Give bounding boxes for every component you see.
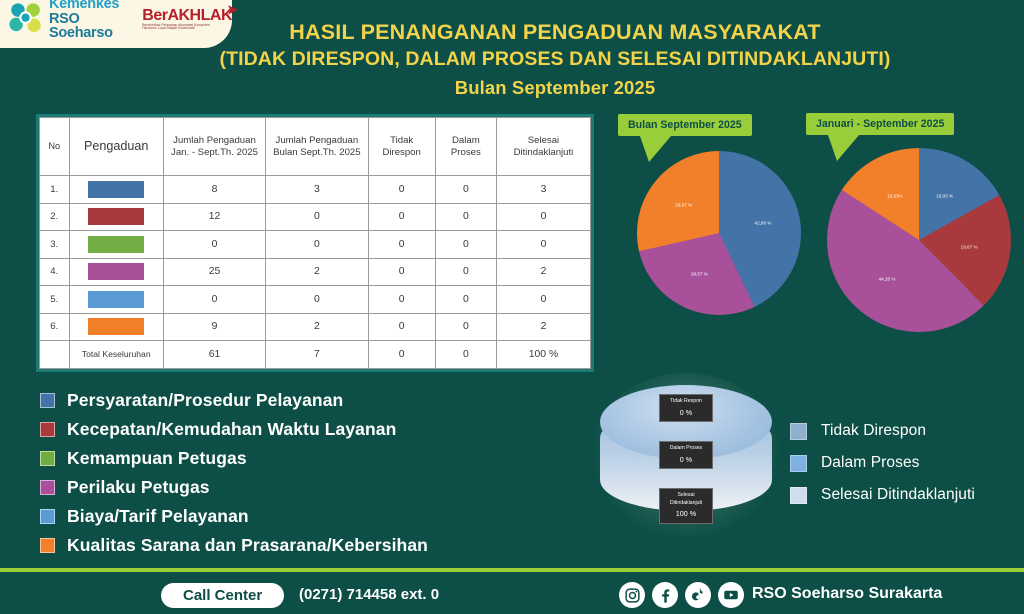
call-center-phone: (0271) 714458 ext. 0	[299, 586, 439, 603]
cylinder-callout-2-value: 0 %	[662, 455, 710, 465]
category-color-swatch	[88, 236, 144, 253]
cell-jan-sept: 0	[163, 286, 265, 314]
status-legend: Tidak DiresponDalam ProsesSelesai Ditind…	[790, 415, 975, 511]
cell-total-jan-sept: 61	[163, 341, 265, 369]
legend-item: Biaya/Tarif Pelayanan	[40, 502, 428, 531]
legend-item-label: Biaya/Tarif Pelayanan	[67, 506, 249, 527]
page-footer: Call Center (0271) 714458 ext. 0 RSO Soe…	[0, 568, 1024, 614]
status-legend-swatch	[790, 487, 807, 504]
category-color-swatch	[88, 291, 144, 308]
cell-dalam-proses: 0	[435, 286, 496, 314]
legend-color-swatch	[40, 509, 55, 524]
col-jumlah-jan-sept: Jumlah Pengaduan Jan. - Sept.Th. 2025	[163, 118, 265, 176]
cell-category-swatch	[69, 258, 163, 286]
legend-color-swatch	[40, 451, 55, 466]
cell-selesai: 0	[496, 231, 590, 259]
table-header-row: No Pengaduan Jumlah Pengaduan Jan. - Sep…	[40, 118, 591, 176]
pie-chart-september: 42,86 %28,57 %28,57 %	[637, 151, 801, 315]
status-legend-label: Tidak Direspon	[821, 422, 926, 440]
table-total-row: Total Keseluruhan61700100 %	[40, 341, 591, 369]
cell-bulan-sept: 0	[266, 203, 368, 231]
legend-color-swatch	[40, 422, 55, 437]
berakhlak-arrow-icon: ➤	[227, 3, 238, 16]
table-row: 3.00000	[40, 231, 591, 259]
cell-jan-sept: 0	[163, 231, 265, 259]
cell-selesai: 2	[496, 258, 590, 286]
title-line-1: HASIL PENANGANAN PENGADUAN MASYARAKAT	[160, 18, 950, 46]
legend-item-label: Kualitas Sarana dan Prasarana/Kebersihan	[67, 535, 428, 556]
page-header: Kemenkes RSO Soeharso ➤ BerAKHLAK Berori…	[0, 0, 1024, 104]
cell-category-swatch	[69, 286, 163, 314]
cell-bulan-sept: 2	[266, 258, 368, 286]
cell-dalam-proses: 0	[435, 176, 496, 204]
cell-dalam-proses: 0	[435, 203, 496, 231]
pie-slice-label: 42,86 %	[755, 220, 772, 225]
legend-item-label: Perilaku Petugas	[67, 477, 210, 498]
status-legend-label: Dalam Proses	[821, 454, 920, 472]
legend-item: Kemampuan Petugas	[40, 444, 428, 473]
cell-selesai: 2	[496, 313, 590, 341]
category-color-swatch	[88, 181, 144, 198]
table-row: 1.83003	[40, 176, 591, 204]
cell-no	[40, 341, 70, 369]
status-legend-label: Selesai Ditindaklanjuti	[821, 486, 975, 504]
table-row: 6.92002	[40, 313, 591, 341]
pie-chart-jan-september: 16,03 %19,67 %44,26 %15,03%	[827, 148, 1011, 332]
cell-bulan-sept: 3	[266, 176, 368, 204]
cell-dalam-proses: 0	[435, 231, 496, 259]
cell-total-selesai: 100 %	[496, 341, 590, 369]
col-pengaduan: Pengaduan	[69, 118, 163, 176]
legend-item-label: Kecepatan/Kemudahan Waktu Layanan	[67, 419, 396, 440]
facebook-icon[interactable]	[652, 582, 678, 608]
instagram-icon[interactable]	[619, 582, 645, 608]
category-color-swatch	[88, 263, 144, 280]
cell-selesai: 0	[496, 203, 590, 231]
cylinder-callout-tidak-respon: Tidak Respon 0 %	[659, 394, 713, 422]
table-head: No Pengaduan Jumlah Pengaduan Jan. - Sep…	[40, 118, 591, 176]
col-jumlah-bulan-sept: Jumlah Pengaduan Bulan Sept.Th. 2025	[266, 118, 368, 176]
legend-color-swatch	[40, 480, 55, 495]
title-line-2: (TIDAK DIRESPON, DALAM PROSES DAN SELESA…	[160, 46, 950, 73]
legend-item: Kecepatan/Kemudahan Waktu Layanan	[40, 415, 428, 444]
complaints-table: No Pengaduan Jumlah Pengaduan Jan. - Sep…	[39, 117, 591, 369]
cell-category-swatch	[69, 313, 163, 341]
cell-category-swatch	[69, 176, 163, 204]
cylinder-callout-dalam-proses: Dalam Proses 0 %	[659, 441, 713, 469]
callout-pie1: Bulan September 2025	[618, 114, 752, 136]
pie-slice-label: 28,57 %	[691, 271, 708, 276]
cell-total-bulan-sept: 7	[266, 341, 368, 369]
cell-no: 2.	[40, 203, 70, 231]
callout-pie2-tail-icon	[828, 135, 859, 161]
cell-tidak-direspon: 0	[368, 258, 435, 286]
legend-item-label: Kemampuan Petugas	[67, 448, 247, 469]
col-selesai: Selesai Ditindaklanjuti	[496, 118, 590, 176]
pie-slice-label: 28,57 %	[675, 202, 692, 207]
pie-slice-label: 44,26 %	[879, 277, 896, 282]
cell-bulan-sept: 2	[266, 313, 368, 341]
legend-item: Kualitas Sarana dan Prasarana/Kebersihan	[40, 531, 428, 560]
table-row: 5.00000	[40, 286, 591, 314]
cell-category-swatch	[69, 231, 163, 259]
cell-dalam-proses: 0	[435, 258, 496, 286]
complaints-table-container: No Pengaduan Jumlah Pengaduan Jan. - Sep…	[36, 114, 594, 372]
col-dalam-proses: Dalam Proses	[435, 118, 496, 176]
cylinder-callout-1-value: 0 %	[662, 408, 710, 418]
cylinder-callout-1-label: Tidak Respon	[670, 398, 702, 404]
legend-item-label: Persyaratan/Prosedur Pelayanan	[67, 390, 343, 411]
cell-bulan-sept: 0	[266, 286, 368, 314]
status-legend-item: Selesai Ditindaklanjuti	[790, 479, 975, 511]
cell-no: 4.	[40, 258, 70, 286]
cell-jan-sept: 25	[163, 258, 265, 286]
cell-no: 1.	[40, 176, 70, 204]
cell-total-label: Total Keseluruhan	[69, 341, 163, 369]
table-body: 1.830032.1200003.000004.2520025.000006.9…	[40, 176, 591, 369]
cell-tidak-direspon: 0	[368, 176, 435, 204]
youtube-icon[interactable]	[718, 582, 744, 608]
pie-slice-label: 15,03%	[887, 193, 903, 198]
status-legend-swatch	[790, 455, 807, 472]
cylinder-callout-selesai: Selesai Ditindaklanjuti 100 %	[659, 488, 713, 524]
page-title: HASIL PENANGANAN PENGADUAN MASYARAKAT (T…	[160, 18, 950, 101]
col-tidak-direspon: Tidak Direspon	[368, 118, 435, 176]
legend-color-swatch	[40, 393, 55, 408]
cell-selesai: 3	[496, 176, 590, 204]
pie-slice-label: 19,67 %	[961, 245, 978, 250]
cell-total-tidak-direspon: 0	[368, 341, 435, 369]
kemenkes-line2: RSO Soeharso	[49, 12, 133, 41]
callout-pie1-label: Bulan September 2025	[628, 119, 742, 131]
tiktok-icon[interactable]	[685, 582, 711, 608]
social-links	[619, 582, 744, 608]
cylinder-callout-2-label: Dalam Proses	[670, 445, 703, 451]
status-legend-swatch	[790, 423, 807, 440]
callout-pie1-tail-icon	[640, 136, 671, 162]
status-cylinder-chart: Tidak Respon 0 % Dalam Proses 0 % Selesa…	[600, 385, 772, 531]
cell-jan-sept: 12	[163, 203, 265, 231]
status-legend-item: Dalam Proses	[790, 447, 975, 479]
cell-no: 6.	[40, 313, 70, 341]
title-line-3: Bulan September 2025	[160, 74, 950, 102]
cylinder-callout-3-label: Selesai Ditindaklanjuti	[670, 492, 702, 506]
status-legend-item: Tidak Direspon	[790, 415, 975, 447]
table-row: 4.252002	[40, 258, 591, 286]
organization-name: RSO Soeharso Surakarta	[752, 585, 942, 603]
callout-pie2: Januari - September 2025	[806, 113, 954, 135]
cylinder-callout-3-value: 100 %	[662, 509, 710, 519]
kemenkes-line1: Kemenkes	[49, 0, 133, 12]
pie-slice-label: 16,03 %	[936, 194, 953, 199]
cell-tidak-direspon: 0	[368, 286, 435, 314]
legend-color-swatch	[40, 538, 55, 553]
call-center-badge: Call Center	[161, 583, 284, 608]
cell-tidak-direspon: 0	[368, 231, 435, 259]
callout-pie2-label: Januari - September 2025	[816, 118, 944, 130]
cell-total-dalam-proses: 0	[435, 341, 496, 369]
cell-tidak-direspon: 0	[368, 313, 435, 341]
cell-no: 5.	[40, 286, 70, 314]
cell-jan-sept: 9	[163, 313, 265, 341]
cell-selesai: 0	[496, 286, 590, 314]
cell-bulan-sept: 0	[266, 231, 368, 259]
legend-item: Persyaratan/Prosedur Pelayanan	[40, 386, 428, 415]
category-color-swatch	[88, 318, 144, 335]
cell-jan-sept: 8	[163, 176, 265, 204]
category-legend: Persyaratan/Prosedur PelayananKecepatan/…	[40, 386, 428, 560]
cell-dalam-proses: 0	[435, 313, 496, 341]
cell-category-swatch	[69, 203, 163, 231]
legend-item: Perilaku Petugas	[40, 473, 428, 502]
cell-no: 3.	[40, 231, 70, 259]
kemenkes-logo-icon	[8, 2, 44, 36]
kemenkes-wordmark: Kemenkes RSO Soeharso	[49, 0, 133, 41]
category-color-swatch	[88, 208, 144, 225]
cell-tidak-direspon: 0	[368, 203, 435, 231]
col-no: No	[40, 118, 70, 176]
table-row: 2.120000	[40, 203, 591, 231]
